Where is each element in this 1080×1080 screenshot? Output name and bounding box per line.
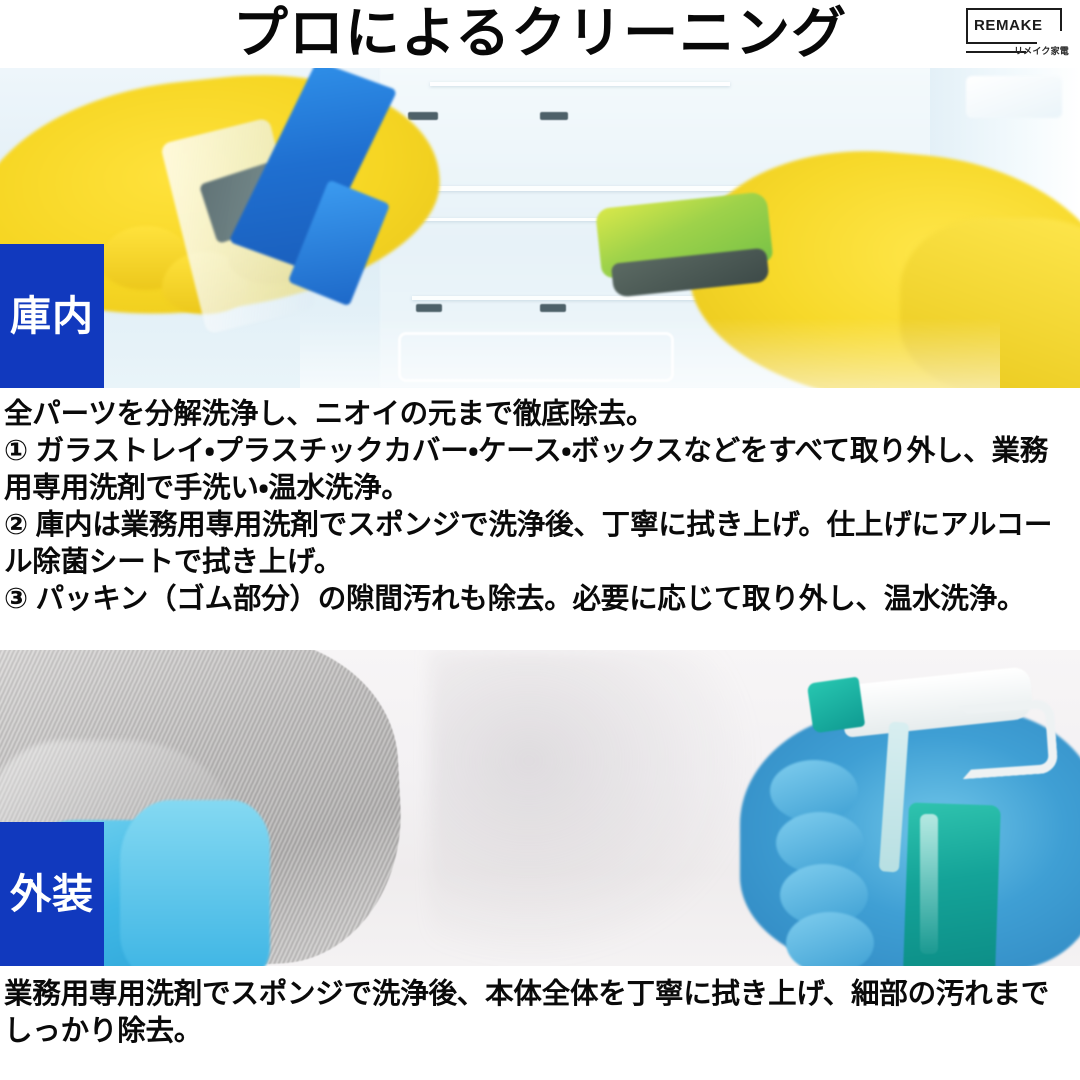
fridge-shelf-line — [430, 82, 730, 86]
fridge-shelf-clip — [540, 112, 568, 120]
badge-interior-label: 庫内 — [10, 296, 94, 337]
spray-bottle-teal — [810, 664, 1040, 964]
copy-interior: 全パーツを分解洗浄し、ニオイの元まで徹底除去。 ① ガラストレイ・プラスチックカ… — [0, 388, 1080, 650]
cleaning-service-infographic: プロによるクリーニング REMAKE リメイク家電 — [0, 0, 1080, 1080]
copy-exterior-line-1: 業務用専用洗剤でスポンジで洗浄後、本体全体を丁寧に拭き上げ、細部の汚れまでしっか… — [4, 976, 1074, 1050]
logo-subtext: リメイク家電 — [1014, 47, 1069, 56]
spray-bottle-tube — [879, 721, 909, 872]
spray-bottle-gloss — [920, 814, 938, 954]
blue-glove-left-fingers — [120, 800, 270, 966]
copy-exterior: 業務用専用洗剤でスポンジで洗浄後、本体全体を丁寧に拭き上げ、細部の汚れまでしっか… — [0, 966, 1080, 1080]
fridge-shelf-clip — [408, 112, 438, 120]
copy-interior-line-2: ① ガラストレイ・プラスチックカバー・ケース・ボックスなどをすべて取り外し、業務… — [4, 433, 1074, 507]
copy-interior-line-3: ② 庫内は業務用専用洗剤でスポンジで洗浄後、丁寧に拭き上げ。仕上げにアルコール除… — [4, 507, 1074, 581]
photo-fridge-interior: 庫内 — [0, 68, 1080, 388]
remake-logo: REMAKE リメイク家電 — [964, 6, 1070, 58]
logo-wordmark: REMAKE — [974, 18, 1043, 33]
page-header: プロによるクリーニング REMAKE リメイク家電 — [0, 0, 1080, 68]
wall-shadow — [430, 650, 760, 966]
spray-bottle-blue — [120, 70, 330, 330]
badge-interior: 庫内 — [0, 244, 104, 388]
fridge-interior-illustration — [0, 68, 1080, 388]
cleaning-sponge — [595, 191, 777, 312]
photo-exterior-wipe: 外装 — [0, 650, 1080, 966]
badge-exterior: 外装 — [0, 822, 104, 966]
fridge-surface-sheen — [300, 318, 1000, 388]
copy-interior-line-1: 全パーツを分解洗浄し、ニオイの元まで徹底除去。 — [4, 396, 1074, 433]
spray-bottle-handle — [958, 699, 1059, 780]
copy-interior-line-4: ③ パッキン（ゴム部分）の隙間汚れも除去。必要に応じて取り外し、温水洗浄。 — [4, 581, 1074, 618]
exterior-wipe-illustration — [0, 650, 1080, 966]
spray-bottle-nozzle — [807, 677, 865, 734]
fridge-shelf-clip — [416, 304, 442, 312]
page-title: プロによるクリーニング — [233, 6, 847, 61]
spray-bottle-liquid — [903, 802, 1001, 966]
fridge-door-pocket — [966, 76, 1062, 118]
fridge-shelf-clip — [540, 304, 566, 312]
badge-exterior-label: 外装 — [10, 874, 94, 915]
